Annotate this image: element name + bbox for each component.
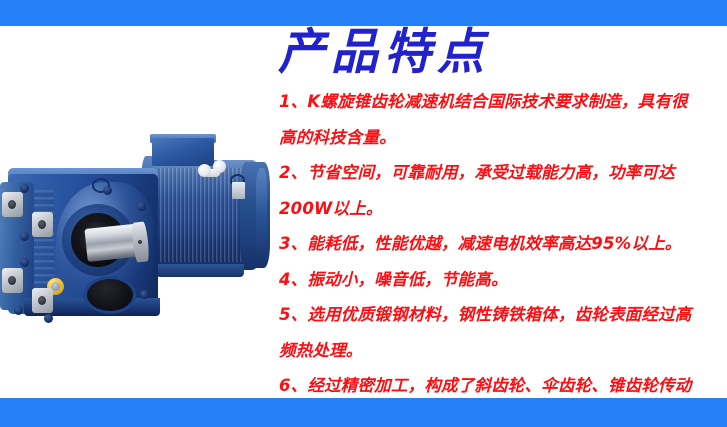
mounting-foot-hole — [38, 296, 46, 305]
housing-bolt — [137, 202, 146, 211]
feature-item-1: 1、K螺旋锥齿轮减速机结合国际技术要求制造，具有很高的科技含量。 — [279, 84, 703, 155]
feature-item-2: 2、节省空间，可靠耐用，承受过载能力高，功率可达200W以上。 — [279, 155, 703, 226]
cable-gland-left — [198, 164, 211, 177]
feature-item-3: 3、能耗低，性能优越，减速电机效率高达95%以上。 — [279, 226, 703, 262]
mounting-foot-hole — [38, 220, 46, 229]
feature-list: 1、K螺旋锥齿轮减速机结合国际技术要求制造，具有很高的科技含量。 2、节省空间，… — [279, 84, 703, 427]
housing-bolt — [140, 290, 149, 299]
product-image-gear-reducer — [0, 138, 272, 343]
motor-end-cap-rim — [256, 168, 267, 262]
motor-base-rail — [156, 264, 244, 277]
feature-item-4: 4、振动小，噪音低，节能高。 — [279, 262, 703, 298]
housing-bolt — [20, 258, 29, 267]
mounting-foot-hole — [8, 200, 16, 209]
page-title: 产品特点 — [278, 24, 490, 82]
housing-bolt — [44, 314, 53, 323]
housing-bolt — [20, 232, 29, 241]
housing-bolt — [103, 186, 112, 195]
motor-nameplate — [232, 182, 245, 199]
product-feature-banner: 产品特点 1、K螺旋锥齿轮减速机结合国际技术要求制造，具有很高的科技含量。 2、… — [0, 0, 727, 427]
output-shaft-keyhole — [138, 240, 142, 244]
feature-item-5: 5、选用优质锻钢材料，钢性铸铁箱体，齿轮表面经过高频热处理。 — [279, 297, 703, 368]
housing-bolt — [20, 184, 29, 193]
housing-bolt — [14, 306, 23, 315]
cable-gland-right — [213, 160, 226, 173]
mounting-foot-hole — [8, 276, 16, 285]
inspection-bore — [84, 276, 136, 314]
top-accent-band — [0, 0, 727, 26]
terminal-box — [152, 138, 214, 166]
bottom-accent-band — [0, 398, 727, 427]
